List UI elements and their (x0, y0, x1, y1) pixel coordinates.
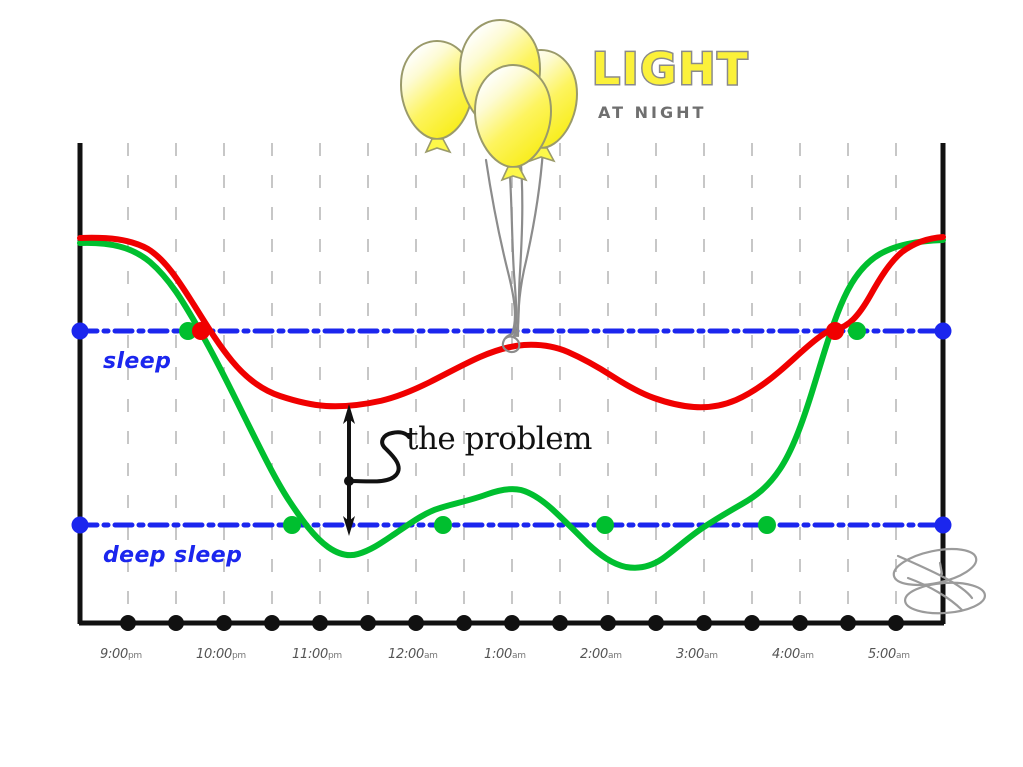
x-axis-tick-label: 9:00pm (100, 648, 142, 661)
x-axis-tick-label: 11:00pm (292, 648, 342, 661)
tick-meridiem: am (896, 651, 910, 661)
tick-time: 1:00 (484, 647, 512, 662)
balloon-strings (486, 150, 543, 352)
tick-meridiem: pm (232, 651, 246, 661)
tick-meridiem: am (512, 651, 526, 661)
tick-meridiem: pm (128, 651, 142, 661)
x-axis-tick-label: 4:00am (772, 648, 814, 661)
tick-time: 9:00 (100, 647, 128, 662)
tick-meridiem: am (424, 651, 438, 661)
x-axis-tick-label: 12:00am (388, 648, 438, 661)
tick-time: 4:00 (772, 647, 800, 662)
marker-green-deep-2 (434, 516, 452, 534)
tick-time: 5:00 (868, 647, 896, 662)
page-title: LIGHT (592, 48, 749, 92)
label-the-problem: the problem (406, 424, 592, 455)
page-subtitle: AT NIGHT (598, 105, 706, 121)
x-axis-tick-label: 2:00am (580, 648, 622, 661)
label-sleep: sleep (103, 351, 171, 373)
marker-green-deep-4 (758, 516, 776, 534)
tick-meridiem: am (704, 651, 718, 661)
x-axis-tick-label: 1:00am (484, 648, 526, 661)
balloon-cluster-icon (401, 20, 577, 180)
marker-green-deep-3 (596, 516, 614, 534)
illustration-canvas: LIGHT AT NIGHT sleep deep sleep the prob… (0, 0, 1023, 767)
tick-time: 10:00 (196, 647, 232, 662)
tick-time: 12:00 (388, 647, 424, 662)
marker-red-sleep-down (192, 322, 210, 340)
tick-meridiem: pm (328, 651, 342, 661)
marker-green-deep-1 (283, 516, 301, 534)
tick-meridiem: am (608, 651, 622, 661)
x-axis-tick-label: 10:00pm (196, 648, 246, 661)
label-deep-sleep: deep sleep (103, 545, 242, 567)
tick-time: 2:00 (580, 647, 608, 662)
x-axis-tick-label: 3:00am (676, 648, 718, 661)
tick-time: 11:00 (292, 647, 328, 662)
gap-arrow-annotation (343, 404, 409, 536)
doodle-scribble-icon (891, 543, 986, 616)
tick-meridiem: am (800, 651, 814, 661)
marker-red-sleep-up (826, 322, 844, 340)
tick-time: 3:00 (676, 647, 704, 662)
x-axis-tick-label: 5:00am (868, 648, 910, 661)
marker-green-sleep-up (848, 322, 866, 340)
